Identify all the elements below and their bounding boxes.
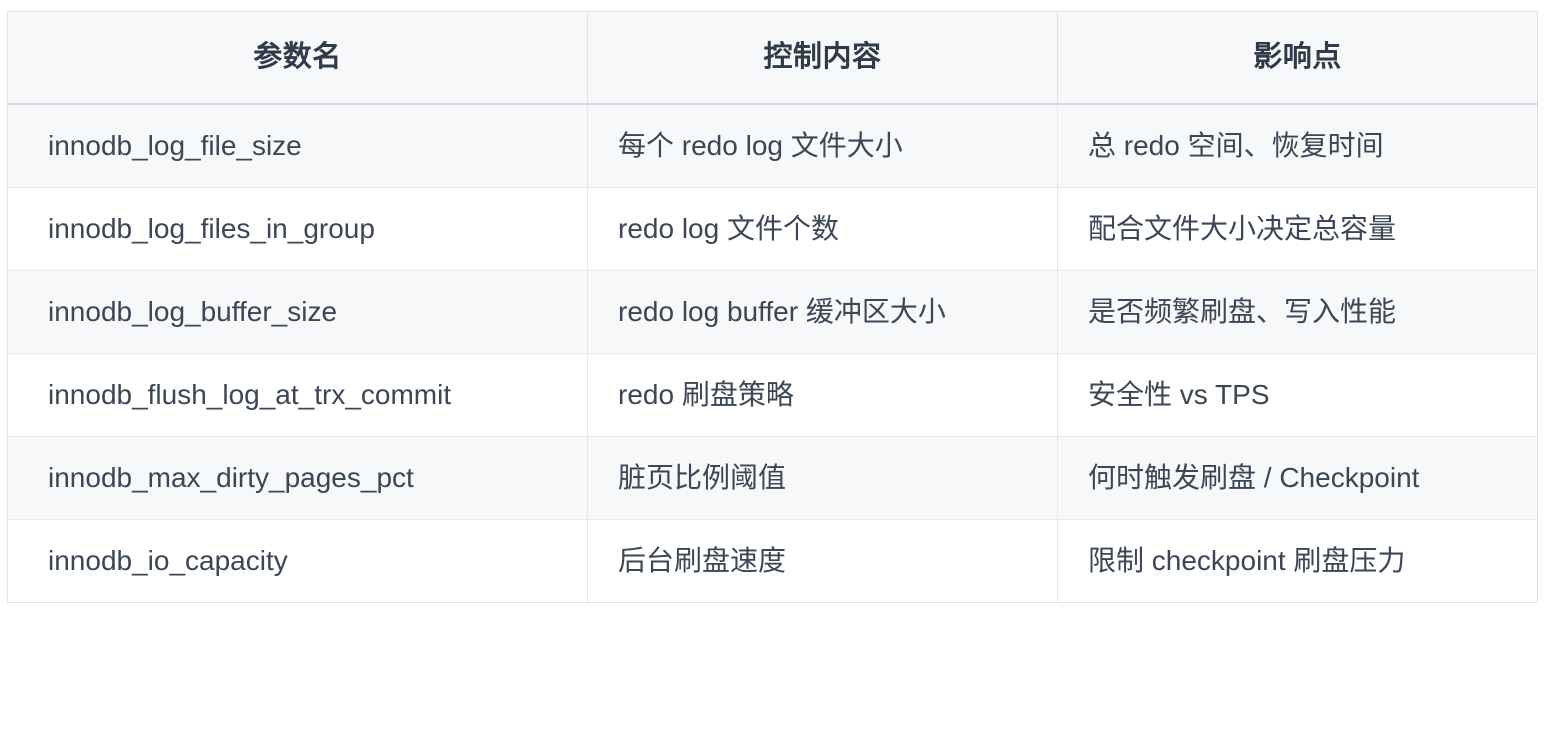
cell-param-name: innodb_io_capacity xyxy=(8,520,588,603)
cell-control-content: 后台刷盘速度 xyxy=(588,520,1058,603)
cell-impact-point: 限制 checkpoint 刷盘压力 xyxy=(1058,520,1538,603)
cell-param-name: innodb_max_dirty_pages_pct xyxy=(8,437,588,520)
table-row: innodb_flush_log_at_trx_commit redo 刷盘策略… xyxy=(8,354,1538,437)
table-body: innodb_log_file_size 每个 redo log 文件大小 总 … xyxy=(8,104,1538,603)
table-row: innodb_log_buffer_size redo log buffer 缓… xyxy=(8,271,1538,354)
table-row: innodb_log_file_size 每个 redo log 文件大小 总 … xyxy=(8,104,1538,188)
cell-param-name: innodb_flush_log_at_trx_commit xyxy=(8,354,588,437)
parameter-table: 参数名 控制内容 影响点 innodb_log_file_size 每个 red… xyxy=(7,11,1538,603)
cell-impact-point: 总 redo 空间、恢复时间 xyxy=(1058,104,1538,188)
cell-param-name: innodb_log_buffer_size xyxy=(8,271,588,354)
cell-param-name: innodb_log_files_in_group xyxy=(8,188,588,271)
cell-control-content: 每个 redo log 文件大小 xyxy=(588,104,1058,188)
cell-control-content: redo log 文件个数 xyxy=(588,188,1058,271)
cell-param-name: innodb_log_file_size xyxy=(8,104,588,188)
parameter-table-container: 参数名 控制内容 影响点 innodb_log_file_size 每个 red… xyxy=(7,11,1537,744)
cell-impact-point: 何时触发刷盘 / Checkpoint xyxy=(1058,437,1538,520)
cell-impact-point: 配合文件大小决定总容量 xyxy=(1058,188,1538,271)
table-row: innodb_log_files_in_group redo log 文件个数 … xyxy=(8,188,1538,271)
column-header-control-content: 控制内容 xyxy=(588,12,1058,105)
cell-impact-point: 是否频繁刷盘、写入性能 xyxy=(1058,271,1538,354)
cell-control-content: redo 刷盘策略 xyxy=(588,354,1058,437)
column-header-impact-point: 影响点 xyxy=(1058,12,1538,105)
table-row: innodb_max_dirty_pages_pct 脏页比例阈值 何时触发刷盘… xyxy=(8,437,1538,520)
cell-control-content: 脏页比例阈值 xyxy=(588,437,1058,520)
column-header-param-name: 参数名 xyxy=(8,12,588,105)
table-header: 参数名 控制内容 影响点 xyxy=(8,12,1538,105)
cell-impact-point: 安全性 vs TPS xyxy=(1058,354,1538,437)
cell-control-content: redo log buffer 缓冲区大小 xyxy=(588,271,1058,354)
table-row: innodb_io_capacity 后台刷盘速度 限制 checkpoint … xyxy=(8,520,1538,603)
table-header-row: 参数名 控制内容 影响点 xyxy=(8,12,1538,105)
